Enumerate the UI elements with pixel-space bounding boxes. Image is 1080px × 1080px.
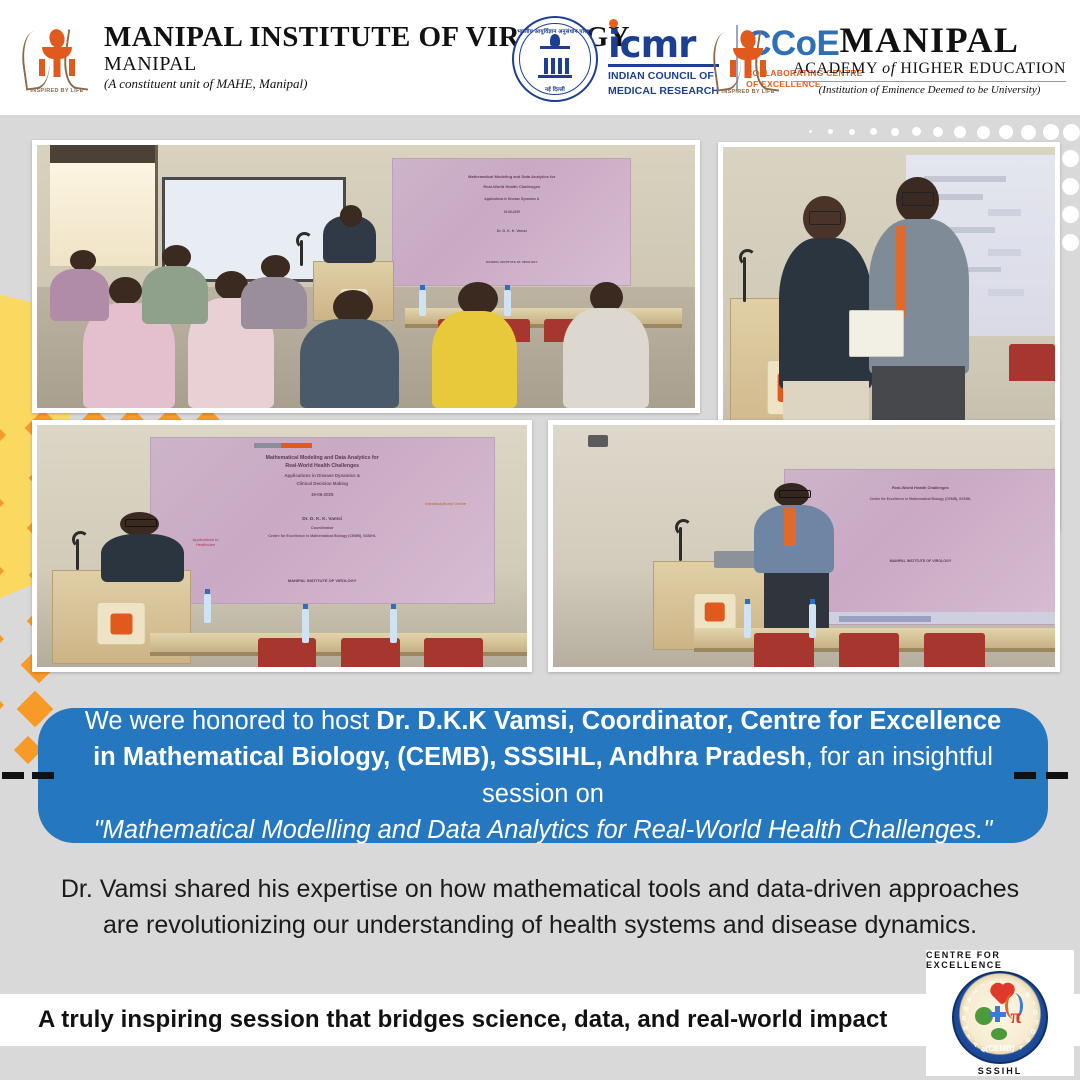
- manipal-torch-crest-icon: INSPIRED BY LIFE: [20, 21, 94, 95]
- cemb-bottom-text: SSSIHL: [978, 1066, 1023, 1076]
- cemb-ring-letter: O: [1032, 1008, 1038, 1015]
- dot-decoration: [912, 127, 921, 136]
- bottom-strip-text: A truly inspiring session that bridges s…: [38, 1006, 887, 1034]
- description-paragraph: Dr. Vamsi shared his expertise on how ma…: [60, 872, 1020, 943]
- slide-title-line1: Mathematical Modeling and Data Analytics…: [393, 174, 630, 179]
- mahe-academy-line: ACADEMY of HIGHER EDUCATION: [793, 59, 1066, 78]
- poster-canvas: INSPIRED BY LIFE MANIPAL INSTITUTE OF VI…: [0, 0, 1080, 1080]
- slide-speaker-affiliation: Centre for Excellence in Mathematical Bi…: [785, 497, 1055, 501]
- dot-decoration: [828, 129, 833, 134]
- mahe-logo-block: INSPIRED BY LIFE MANIPAL ACADEMY of HIGH…: [711, 22, 1066, 96]
- diamond-decoration: [0, 632, 4, 646]
- description-line-1: Dr. Vamsi shared his expertise on how ma…: [60, 872, 1020, 908]
- photo-speaker-at-podium: Mathematical Modeling and Data Analytics…: [32, 420, 532, 672]
- dash-decoration: [1014, 772, 1036, 779]
- cemb-ring-letter: L: [1033, 1017, 1038, 1025]
- photo-speaker-session-view: Real-World Health Challenges Centre for …: [548, 420, 1060, 672]
- flower-icon: [991, 1028, 1007, 1040]
- plus-icon: [990, 1012, 1006, 1017]
- dot-decoration: [1043, 124, 1059, 140]
- pi-symbol-icon: π: [1010, 1006, 1021, 1029]
- bottom-highlight-strip: A truly inspiring session that bridges s…: [0, 994, 1080, 1046]
- dot-decoration: [870, 128, 877, 135]
- dot-decoration: [954, 126, 966, 138]
- dot-decoration: [809, 130, 812, 133]
- crest-motto-text: INSPIRED BY LIFE: [20, 88, 94, 94]
- cemb-ring-letter: I: [1031, 998, 1035, 1005]
- diamond-decoration: [0, 698, 4, 712]
- slide-host: MANIPAL INSTITUTE OF VIROLOGY: [151, 578, 494, 583]
- banner-text: We were honored to host Dr. D.K.K Vamsi,…: [72, 703, 1014, 848]
- dash-decoration: [2, 772, 24, 779]
- dot-decoration: [1062, 150, 1079, 167]
- dot-decoration: [1062, 234, 1079, 251]
- slide-subtitle-line1: Applications in Disease Dynamics &: [393, 197, 630, 201]
- icmr-seal-bottom-text: नई दिल्ली: [514, 85, 596, 93]
- slide-date: 19-06-2025: [151, 492, 494, 497]
- cemb-circle-emblem-icon: MATHEMATICAL BIOLOGY π (CEMB): [952, 971, 1048, 1064]
- slide-badge-left: Applications to Healthcare: [185, 537, 226, 563]
- banner-part1: We were honored to host: [85, 707, 377, 735]
- slide-subtitle-line1: Applications in Disease Dynamics &: [151, 473, 494, 478]
- dash-decoration: [32, 772, 54, 779]
- slide-title-line2: Real-World Health Challenges: [151, 463, 494, 469]
- dot-decoration: [999, 125, 1013, 139]
- dot-decoration: [849, 129, 855, 135]
- slide-badge-right: Interdisciplinary Centre: [418, 501, 473, 521]
- slide-date: 19-06-2025: [393, 210, 630, 214]
- slide-title-line2: Real-World Health Challenges: [393, 184, 630, 189]
- cemb-top-text: CENTRE FOR EXCELLENCE: [926, 950, 1074, 970]
- mahe-academy-of: of: [882, 60, 896, 77]
- icmr-seal-top-text: भारतीय आयुर्विज्ञान अनुसंधान परिषद: [514, 27, 596, 35]
- mahe-text-block: MANIPAL ACADEMY of HIGHER EDUCATION (Ins…: [793, 22, 1066, 95]
- dash-decoration: [1046, 772, 1068, 779]
- mahe-crest-motto-text: INSPIRED BY LIFE: [711, 89, 785, 95]
- mahe-torch-crest-icon: INSPIRED BY LIFE: [711, 22, 785, 96]
- dot-decoration: [933, 127, 943, 137]
- icmr-subtitle-1: INDIAN COUNCIL OF: [608, 70, 719, 82]
- icmr-subtitle-2: MEDICAL RESEARCH: [608, 85, 719, 97]
- slide-title-line1: Mathematical Modeling and Data Analytics…: [151, 455, 494, 461]
- header-bar: INSPIRED BY LIFE MANIPAL INSTITUTE OF VI…: [0, 0, 1080, 115]
- cemb-tag: (CEMB): [954, 1044, 1046, 1053]
- mahe-eminence-line: (Institution of Eminence Deemed to be Un…: [793, 84, 1066, 96]
- photo-audience-wide-shot: Mathematical Modeling and Data Analytics…: [32, 140, 700, 413]
- slide-host: MANIPAL INSTITUTE OF VIROLOGY: [393, 260, 630, 264]
- description-line-2: are revolutionizing our understanding of…: [60, 908, 1020, 944]
- dot-decoration: [1021, 125, 1036, 140]
- icmr-letters: icmr: [608, 27, 719, 63]
- mahe-academy-a: ACADEMY: [793, 60, 882, 77]
- dot-decoration: [891, 128, 899, 136]
- icmr-seal-icon: भारतीय आयुर्विज्ञान अनुसंधान परिषद नई दि…: [512, 16, 598, 102]
- mahe-academy-c: HIGHER EDUCATION: [896, 60, 1066, 77]
- slide-subtitle-line2: Clinical Decision Making: [151, 481, 494, 486]
- dot-decoration: [1062, 206, 1079, 223]
- cemb-icon-cluster: π: [969, 987, 1032, 1042]
- dot-decoration: [1062, 178, 1079, 195]
- slide-speaker-role: Coordinator: [151, 525, 494, 530]
- dot-decoration: [977, 126, 990, 139]
- highlight-banner: We were honored to host Dr. D.K.K Vamsi,…: [38, 708, 1048, 843]
- cemb-logo: CENTRE FOR EXCELLENCE MATHEMATICAL BIOLO…: [926, 950, 1074, 1076]
- banner-session-title: "Mathematical Modelling and Data Analyti…: [94, 816, 993, 844]
- slide-title-line2: Real-World Health Challenges: [785, 485, 1055, 490]
- mahe-divider-rule: [793, 81, 1066, 82]
- dot-decoration: [1063, 124, 1080, 141]
- cemb-ring-letter: E: [962, 1015, 967, 1022]
- mahe-title: MANIPAL: [793, 22, 1066, 58]
- slide-speaker: Dr. D. K. K. Vamsi: [393, 229, 630, 233]
